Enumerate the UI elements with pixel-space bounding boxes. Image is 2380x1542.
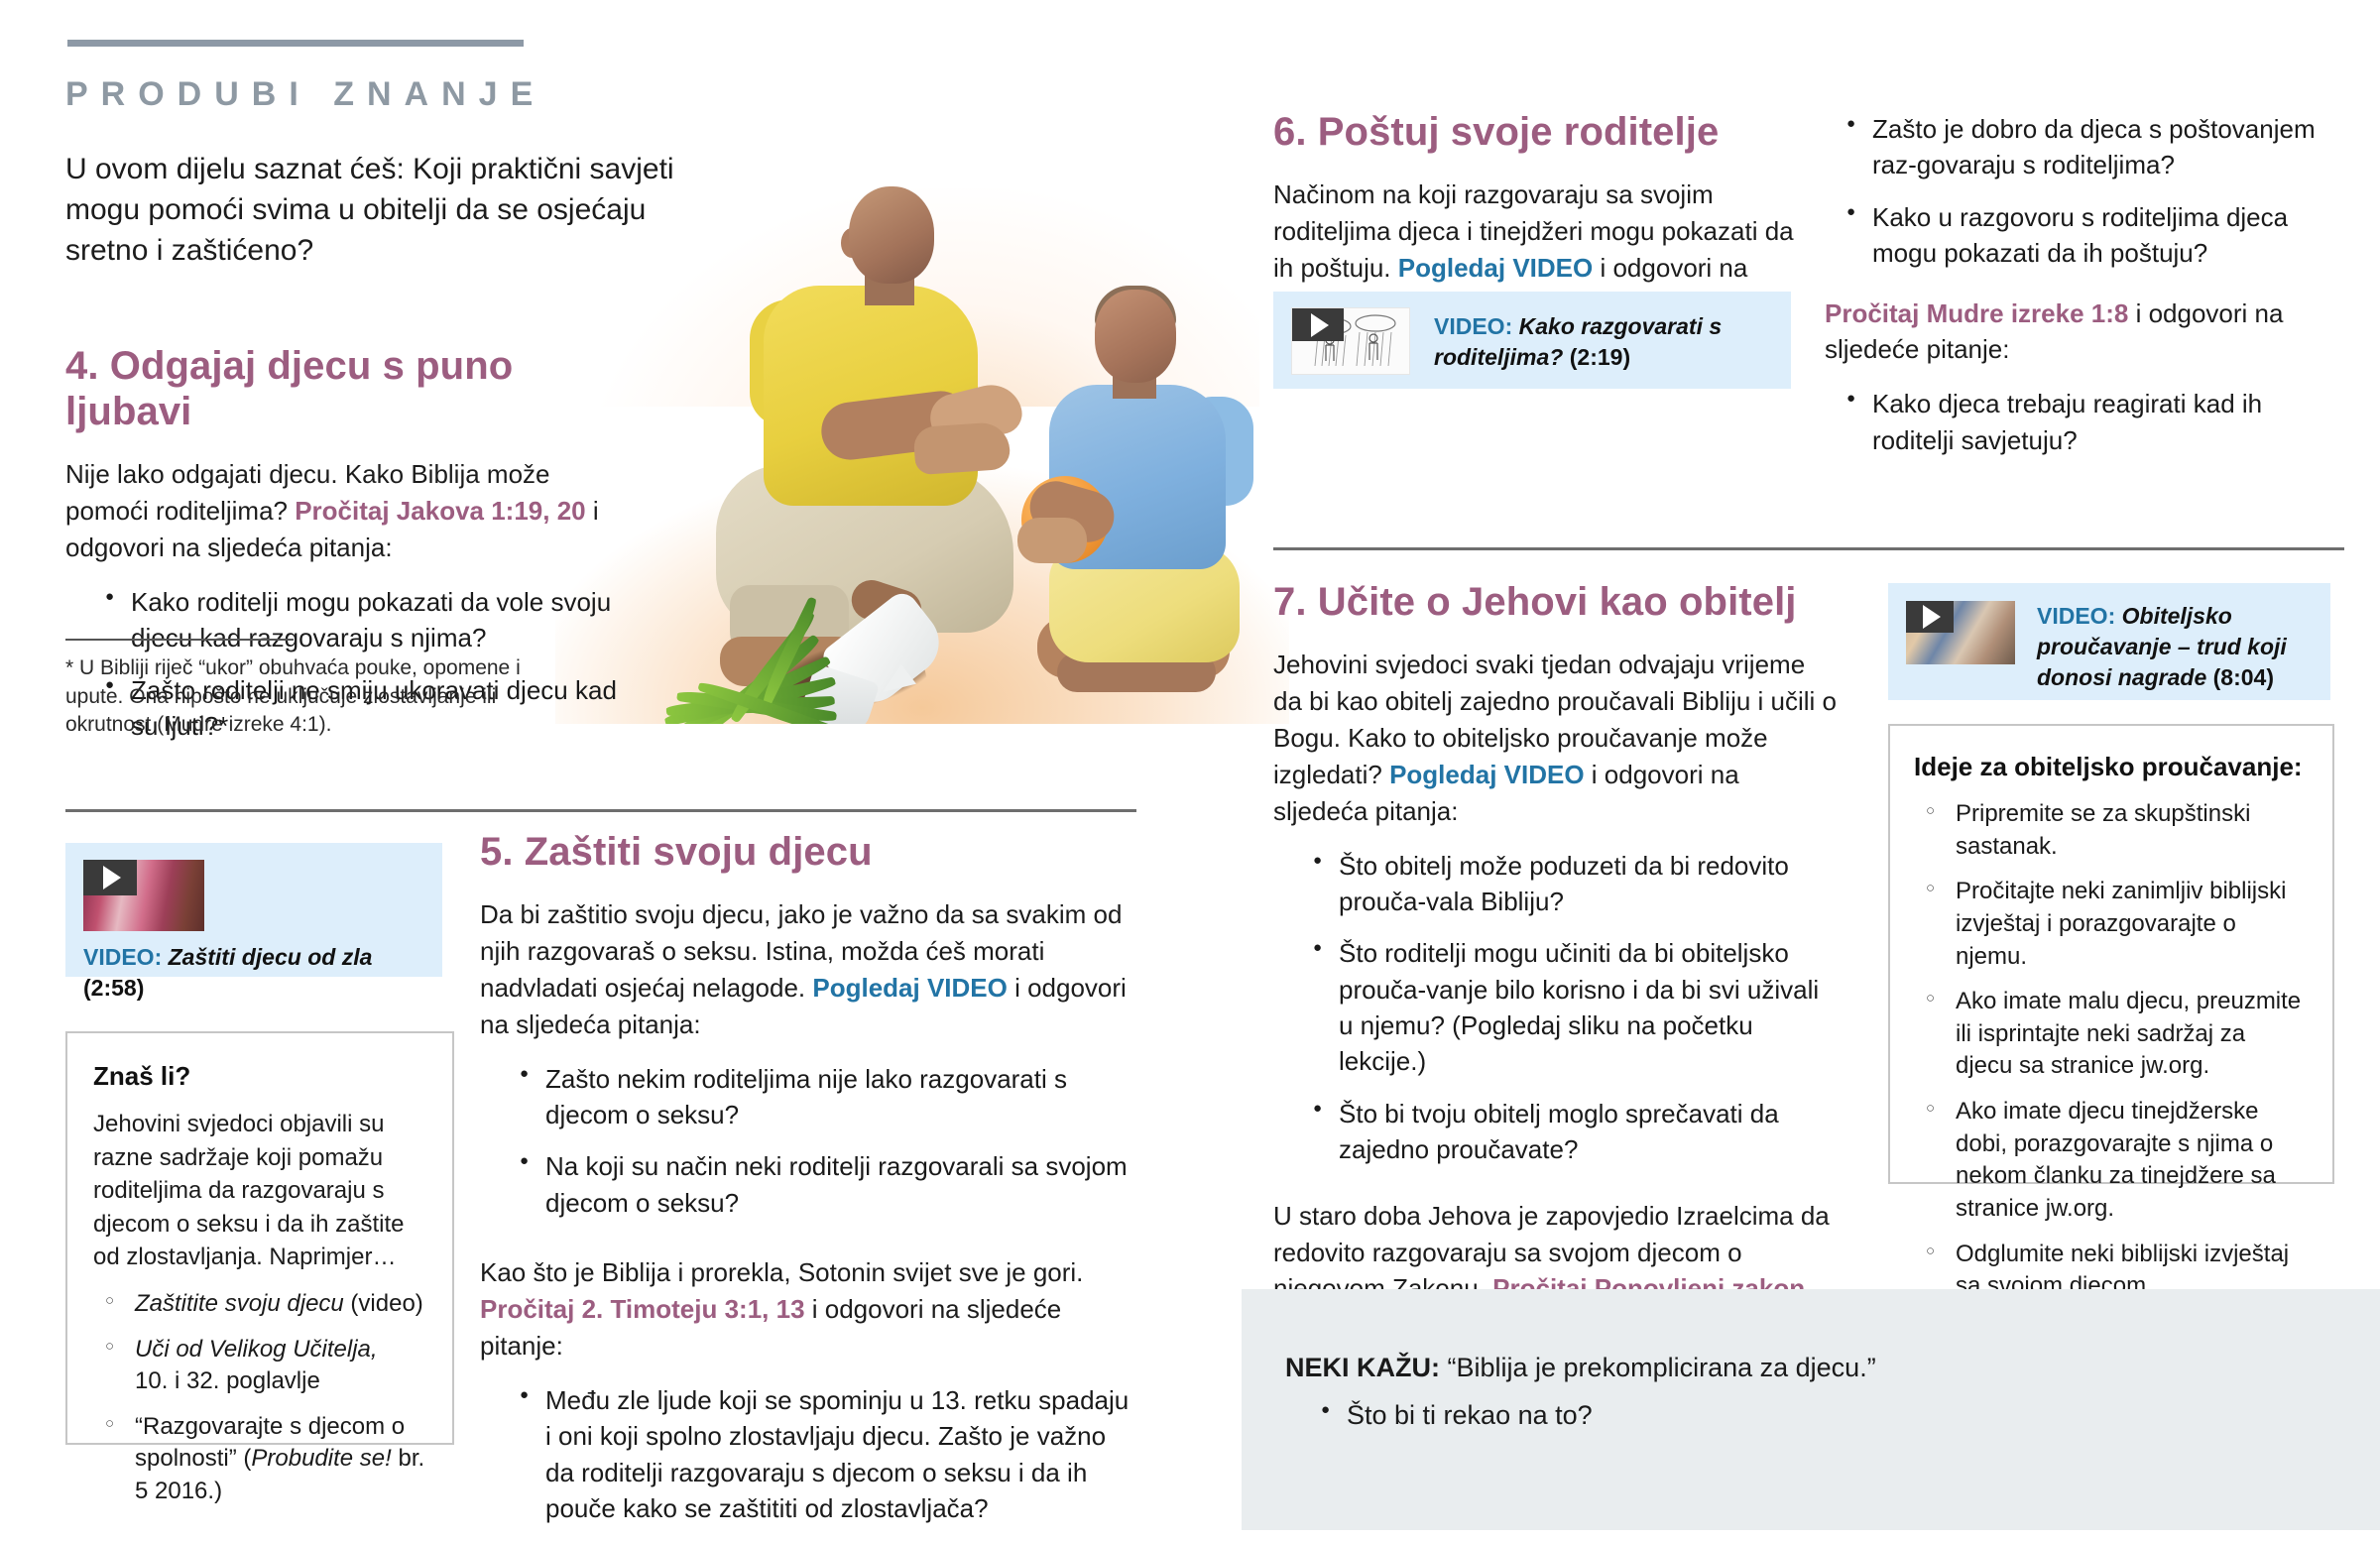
list-item: Zaštitite svoju djecu (video) xyxy=(103,1288,426,1321)
page-title: PRODUBI ZNANJE xyxy=(65,75,545,114)
video-duration: (2:58) xyxy=(83,975,144,1001)
video-thumbnail[interactable] xyxy=(1291,307,1410,375)
did-you-know-panel: Znaš li? Jehovini svjedoci objavili su r… xyxy=(65,1031,454,1445)
list-item: Na koji su način neki roditelji razgovar… xyxy=(520,1148,1134,1221)
list-item: “Razgovarajte s djecom o spolnosti” (Pro… xyxy=(103,1411,426,1508)
section-5-video-link[interactable]: Pogledaj VIDEO xyxy=(812,973,1008,1003)
did-you-know-heading: Znaš li? xyxy=(93,1061,426,1092)
section-6-paragraph-2: Pročitaj Mudre izreke 1:8 i odgovori na … xyxy=(1825,296,2330,369)
family-worship-ideas-panel: Ideje za obiteljsko proučavanje: Priprem… xyxy=(1888,724,2334,1184)
list-item: Među zle ljude koji se spominju u 13. re… xyxy=(520,1382,1134,1527)
did-you-know-paragraph: Jehovini svjedoci objavili su razne sadr… xyxy=(93,1108,426,1274)
video-thumbnail[interactable] xyxy=(83,860,204,931)
list-item: Zašto je dobro da djeca s poštovanjem ra… xyxy=(1846,111,2330,183)
publication-title: Uči od Velikog Učitelja, xyxy=(135,1336,378,1363)
footnote-rule xyxy=(65,639,294,641)
section-4-paragraph: Nije lako odgajati djecu. Kako Biblija m… xyxy=(65,456,621,566)
video-duration: (2:19) xyxy=(1563,344,1630,370)
section-5-paragraph: Da bi zaštitio svoju djecu, jako je važn… xyxy=(480,896,1134,1043)
section-4-footnote: * U Bibliji riječ “ukor” obuhvaća pouke,… xyxy=(65,654,541,740)
divider-right-column xyxy=(1273,547,2344,550)
list-item: Što bi tvoju obitelj moglo sprečavati da… xyxy=(1313,1096,1839,1168)
man-head xyxy=(849,186,934,284)
lesson-page: PRODUBI ZNANJE U ovom dijelu saznat ćeš:… xyxy=(0,0,2380,1530)
publication-series: Probudite se! xyxy=(251,1445,391,1472)
section-6-video-link[interactable]: Pogledaj VIDEO xyxy=(1398,253,1594,283)
section-5-paragraph-2: Kao što je Biblija i prorekla, Sotonin s… xyxy=(480,1254,1134,1364)
section-6-question-list-2: Kako djeca trebaju reagirati kad ih rodi… xyxy=(1825,386,2330,458)
man-hand-lower xyxy=(912,421,1011,476)
section-7-paragraph: Jehovini svjedoci svaki tjedan odvajaju … xyxy=(1273,647,1839,830)
list-item: Uči od Velikog Učitelja, 10. i 32. pogla… xyxy=(103,1334,426,1398)
section-7-video-link[interactable]: Pogledaj VIDEO xyxy=(1389,760,1585,789)
video-key-label: VIDEO: xyxy=(2037,603,2115,629)
section-4-scripture-link[interactable]: Pročitaj Jakova 1:19, 20 xyxy=(295,496,585,526)
some-say-line: NEKI KAŽU: “Biblija je prekomplicirana z… xyxy=(1285,1353,2380,1383)
some-say-quote: “Biblija je prekomplicirana za djecu.” xyxy=(1440,1353,1876,1382)
divider-left-column xyxy=(65,809,1136,812)
list-item: Zašto nekim roditeljima nije lako razgov… xyxy=(520,1061,1134,1133)
list-item: Kako djeca trebaju reagirati kad ih rodi… xyxy=(1846,386,2330,458)
section-5-question-list: Zašto nekim roditeljima nije lako razgov… xyxy=(480,1061,1134,1222)
list-item: Ako imate malu djecu, preuzmite ili ispr… xyxy=(1924,986,2309,1083)
video-card-family-worship[interactable]: VIDEO: Obiteljsko proučavanje – trud koj… xyxy=(1888,583,2330,700)
some-say-question-list: Što bi ti rekao na to? xyxy=(1285,1397,2380,1435)
publication-title: Zaštitite svoju djecu xyxy=(135,1290,344,1317)
boy-head xyxy=(1095,290,1176,383)
section-4-heading: 4. Odgajaj djecu s puno ljubavi xyxy=(65,343,621,434)
video-key-label: VIDEO: xyxy=(1434,313,1512,339)
list-item: Ako imate djecu tinejdžerske dobi, poraz… xyxy=(1924,1096,2309,1226)
publication-note: 10. i 32. poglavlje xyxy=(135,1367,320,1394)
list-item: Kako roditelji mogu pokazati da vole svo… xyxy=(105,584,621,656)
section-7-heading: 7. Učite o Jehovi kao obitelj xyxy=(1273,579,1839,625)
section-6-scripture-link[interactable]: Pročitaj Mudre izreke 1:8 xyxy=(1825,298,2128,328)
section-5-text-c: Kao što je Biblija i prorekla, Sotonin s… xyxy=(480,1257,1083,1287)
video-title: Zaštiti djecu od zla xyxy=(162,944,372,970)
video-caption: VIDEO: Zaštiti djecu od zla (2:58) xyxy=(83,942,430,1004)
some-say-panel: NEKI KAŽU: “Biblija je prekomplicirana z… xyxy=(1242,1289,2380,1530)
section-5-question-list-2: Među zle ljude koji se spominju u 13. re… xyxy=(480,1382,1134,1527)
video-duration: (8:04) xyxy=(2206,664,2274,690)
play-icon[interactable] xyxy=(1906,601,1954,633)
section-5-heading: 5. Zaštiti svoju djecu xyxy=(480,829,1134,875)
section-7-question-list: Što obitelj može poduzeti da bi redovito… xyxy=(1273,848,1839,1168)
play-icon[interactable] xyxy=(1292,308,1344,341)
section-6-question-list: Zašto je dobro da djeca s poštovanjem ra… xyxy=(1825,111,2330,272)
video-caption: VIDEO: Kako razgovarati s roditeljima? (… xyxy=(1434,311,1761,373)
list-item: Što obitelj može poduzeti da bi redovito… xyxy=(1313,848,1839,920)
section-5-scripture-link[interactable]: Pročitaj 2. Timoteju 3:1, 13 xyxy=(480,1294,805,1324)
list-item: Što bi ti rekao na to? xyxy=(1321,1397,2380,1435)
video-caption: VIDEO: Obiteljsko proučavanje – trud koj… xyxy=(2037,601,2315,693)
video-card-protect-children[interactable]: VIDEO: Zaštiti djecu od zla (2:58) xyxy=(65,843,442,977)
boy-hand xyxy=(1017,518,1087,563)
list-item: Pripremite se za skupštinski sastanak. xyxy=(1924,798,2309,863)
list-item: Što roditelji mogu učiniti da bi obitelj… xyxy=(1313,935,1839,1080)
publication-note: (video) xyxy=(344,1290,423,1317)
lesson-illustration xyxy=(555,69,1289,724)
ideas-heading: Ideje za obiteljsko proučavanje: xyxy=(1914,752,2309,782)
did-you-know-list: Zaštitite svoju djecu (video) Uči od Vel… xyxy=(93,1288,426,1508)
play-icon[interactable] xyxy=(83,860,137,895)
section-6-heading: 6. Poštuj svoje roditelje xyxy=(1273,109,1799,155)
header-rule xyxy=(67,40,524,47)
video-thumbnail[interactable] xyxy=(1906,601,2015,664)
list-item: Kako u razgovoru s roditeljima djeca mog… xyxy=(1846,199,2330,272)
list-item: Pročitajte neki zanimljiv biblijski izvj… xyxy=(1924,876,2309,973)
video-card-talk-to-parents[interactable]: VIDEO: Kako razgovarati s roditeljima? (… xyxy=(1273,292,1791,389)
video-key-label: VIDEO: xyxy=(83,944,162,970)
some-say-label: NEKI KAŽU: xyxy=(1285,1353,1440,1382)
